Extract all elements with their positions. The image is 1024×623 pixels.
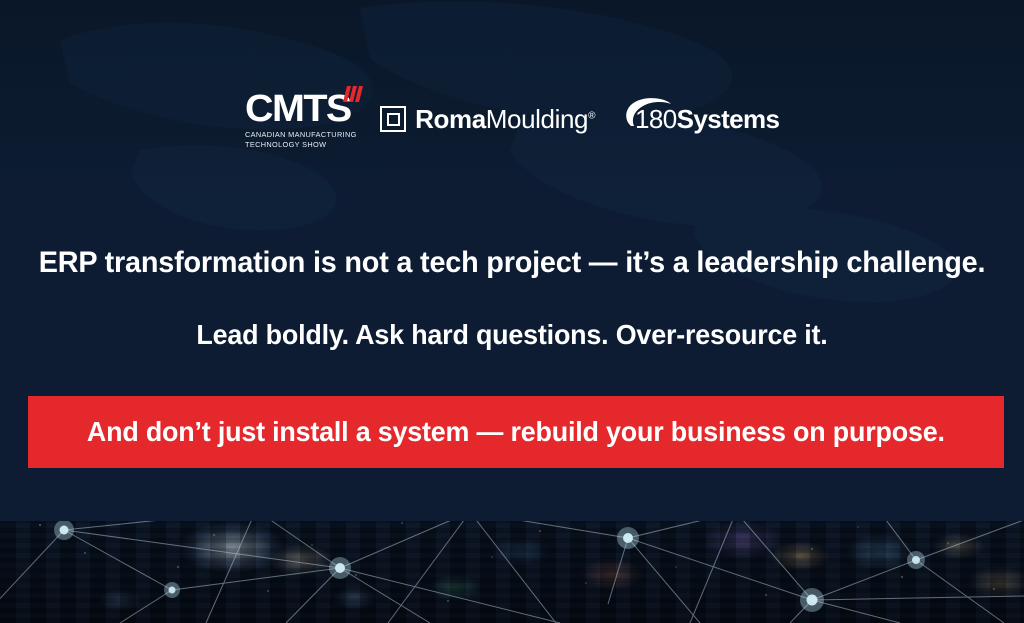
cmts-wordmark: CMTS <box>245 91 351 127</box>
cmts-logo: CMTS CANADIAN MANUFACTURING TECHNOLOGY S… <box>245 89 355 150</box>
roma-square-mark-icon <box>380 106 406 132</box>
roma-moulding-logo: RomaMoulding® <box>380 106 595 132</box>
systems180-logo: 180Systems <box>625 106 779 132</box>
roma-light-text: Moulding <box>486 104 588 134</box>
sponsor-logo-bar: CMTS CANADIAN MANUFACTURING TECHNOLOGY S… <box>0 88 1024 150</box>
cmts-slash-accent-icon <box>343 86 363 102</box>
content-panel: CMTS CANADIAN MANUFACTURING TECHNOLOGY S… <box>0 0 1024 521</box>
roma-bold-text: Roma <box>415 104 486 134</box>
roma-wordmark: RomaMoulding® <box>415 106 595 132</box>
systems180-wordmark: 180Systems <box>635 106 779 132</box>
presentation-slide: CMTS CANADIAN MANUFACTURING TECHNOLOGY S… <box>0 0 1024 623</box>
callout-banner-text: And don’t just install a system — rebuil… <box>87 417 945 448</box>
systems180-number: 180 <box>635 104 677 134</box>
headline-primary: ERP transformation is not a tech project… <box>20 246 1003 279</box>
headline-secondary: Lead boldly. Ask hard questions. Over-re… <box>20 320 1003 351</box>
systems180-name: Systems <box>677 104 780 134</box>
cmts-tagline: CANADIAN MANUFACTURING TECHNOLOGY SHOW <box>245 130 357 150</box>
roma-square-inner-icon <box>387 113 400 126</box>
callout-banner: And don’t just install a system — rebuil… <box>28 396 1004 468</box>
roma-trademark-symbol: ® <box>588 110 595 121</box>
